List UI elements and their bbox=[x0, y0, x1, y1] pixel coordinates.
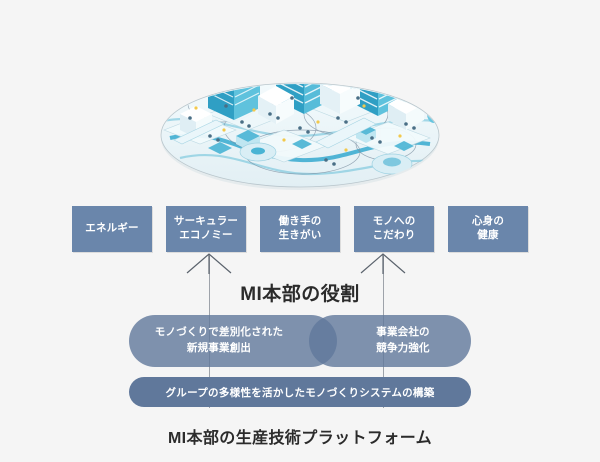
pillar-label-line: サーキュラー bbox=[174, 215, 238, 229]
pillar-box-worker-fulfilment[interactable]: 働き手の 生きがい bbox=[260, 206, 340, 252]
pillar-label-line: 生きがい bbox=[279, 229, 322, 243]
pillar-box-row: エネルギー サーキュラー エコノミー 働き手の 生きがい モノへの こだわり 心… bbox=[72, 206, 528, 252]
venn-pill-label-line: 競争力強化 bbox=[376, 341, 430, 357]
venn-pill-new-business[interactable]: モノづくりで差別化された 新規事業創出 bbox=[129, 315, 337, 367]
pillar-label-line: 働き手の bbox=[279, 215, 322, 229]
pillar-label-line: モノへの bbox=[373, 215, 416, 229]
venn-pill-competitiveness[interactable]: 事業会社の 競争力強化 bbox=[309, 315, 471, 367]
role-title: MI本部の役割 bbox=[0, 279, 600, 306]
illustration-plaza bbox=[240, 143, 276, 161]
diagram-page: エネルギー サーキュラー エコノミー 働き手の 生きがい モノへの こだわり 心… bbox=[0, 0, 600, 462]
pillar-label-line: こだわり bbox=[373, 229, 416, 243]
platform-caption: MI本部の生産技術プラットフォーム bbox=[0, 424, 600, 448]
isometric-smart-city-illustration bbox=[150, 18, 450, 196]
venn-pill-label-line: モノづくりで差別化された bbox=[155, 325, 283, 341]
pillar-box-circular-economy[interactable]: サーキュラー エコノミー bbox=[166, 206, 246, 252]
pillar-box-product-quality[interactable]: モノへの こだわり bbox=[354, 206, 434, 252]
pillar-label-line: 心身の bbox=[472, 215, 504, 229]
pillar-box-health[interactable]: 心身の 健康 bbox=[448, 206, 528, 252]
venn-pill-group: モノづくりで差別化された 新規事業創出 事業会社の 競争力強化 bbox=[129, 315, 471, 367]
pillar-box-energy[interactable]: エネルギー bbox=[72, 206, 152, 252]
pillar-label-line: 健康 bbox=[472, 229, 504, 243]
venn-pill-label-line: 新規事業創出 bbox=[187, 341, 251, 357]
foundation-pill-label: グループの多様性を活かしたモノづくりシステムの構築 bbox=[165, 385, 434, 400]
venn-pill-label-line: 事業会社の bbox=[376, 325, 430, 341]
foundation-pill[interactable]: グループの多様性を活かしたモノづくりシステムの構築 bbox=[129, 377, 471, 407]
pillar-label-line: エコノミー bbox=[174, 229, 238, 243]
pillar-label-line: エネルギー bbox=[85, 222, 139, 236]
illustration-floating-panels bbox=[150, 18, 450, 88]
